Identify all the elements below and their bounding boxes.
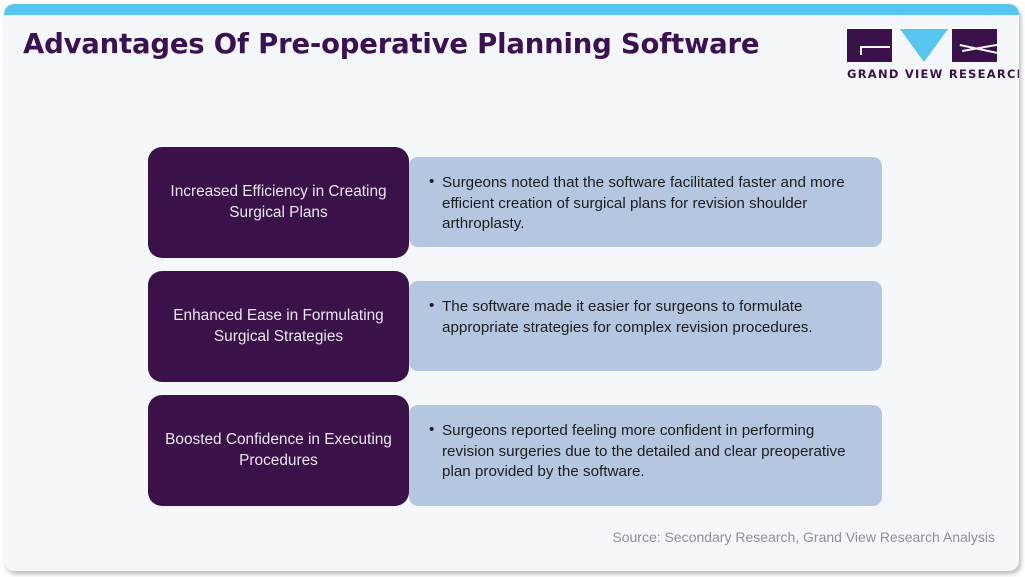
label-box-1[interactable]: Increased Efficiency in Creating Surgica…: [148, 147, 409, 258]
detail-box-3: •Surgeons reported feeling more confiden…: [409, 405, 882, 506]
bullet-icon-2: •: [429, 296, 434, 317]
detail-box-1: •Surgeons noted that the software facili…: [409, 157, 882, 247]
detail-text-2: •The software made it easier for surgeon…: [442, 297, 864, 338]
slide-canvas: Advantages Of Pre-operative Planning Sof…: [0, 0, 1025, 577]
label-box-2[interactable]: Enhanced Ease in Formulating Surgical St…: [148, 271, 409, 382]
detail-box-2: •The software made it easier for surgeon…: [409, 281, 882, 371]
label-box-3[interactable]: Boosted Confidence in Executing Procedur…: [148, 395, 409, 506]
bullet-icon-1: •: [429, 172, 434, 193]
detail-text-1: •Surgeons noted that the software facili…: [442, 173, 864, 235]
label-text-1: Increased Efficiency in Creating Surgica…: [162, 182, 395, 223]
label-text-2: Enhanced Ease in Formulating Surgical St…: [162, 306, 395, 347]
detail-text-3: •Surgeons reported feeling more confiden…: [442, 421, 864, 483]
bullet-icon-3: •: [429, 420, 434, 441]
slide: Advantages Of Pre-operative Planning Sof…: [4, 4, 1019, 571]
label-text-3: Boosted Confidence in Executing Procedur…: [162, 430, 395, 471]
content-rows: •Surgeons noted that the software facili…: [4, 4, 1019, 571]
source-note: Source: Secondary Research, Grand View R…: [612, 529, 995, 545]
